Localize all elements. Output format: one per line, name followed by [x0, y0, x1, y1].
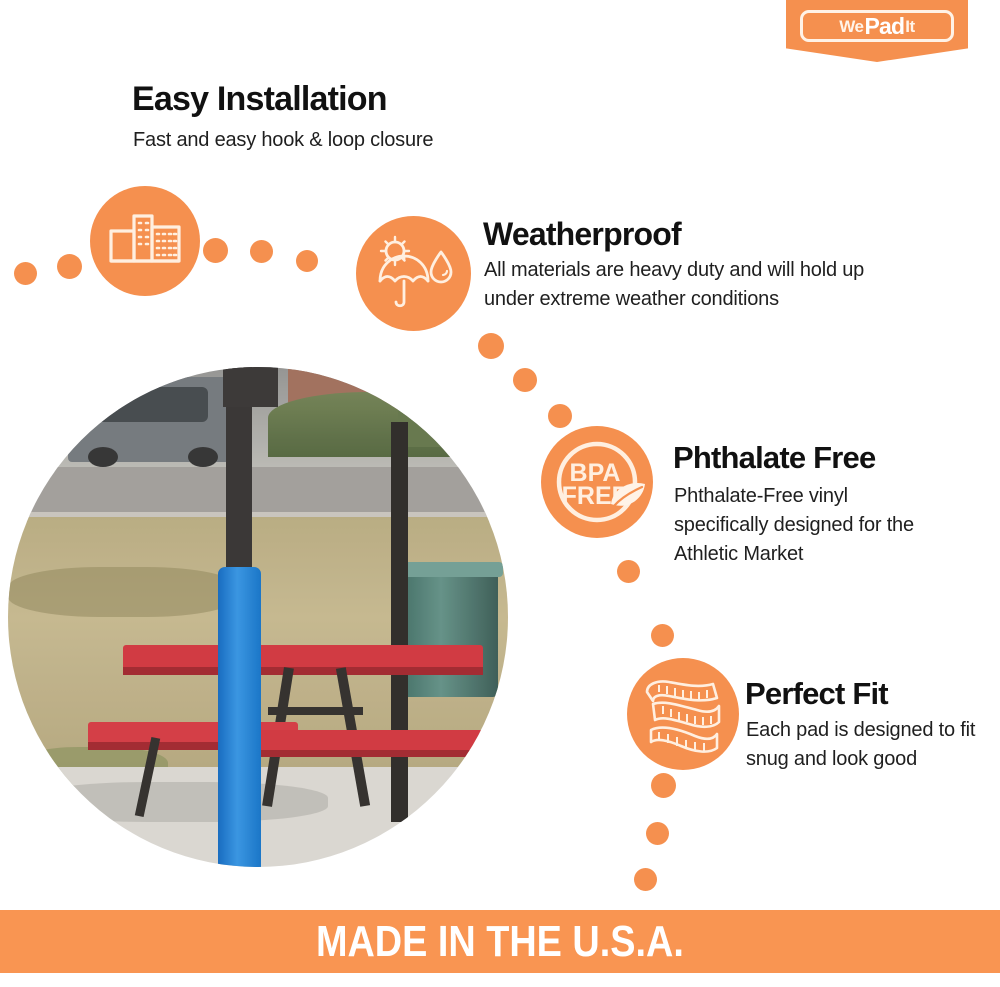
measuring-tape-icon [637, 668, 729, 760]
feature-description-perfect-fit: Each pad is designed to fit snug and loo… [746, 716, 976, 774]
path-dot [203, 238, 228, 263]
logo-pill-outline: We Pad It [800, 10, 954, 42]
path-dot [617, 560, 640, 583]
feature-title-phthalate-free: Phthalate Free [673, 440, 875, 476]
made-in-usa-text: MADE IN THE U.S.A. [316, 917, 684, 967]
feature-title-weatherproof: Weatherproof [483, 216, 681, 253]
logo-text-we: We [839, 18, 863, 35]
path-dot [14, 262, 37, 285]
path-dot [513, 368, 537, 392]
path-dot [646, 822, 669, 845]
path-dot [57, 254, 82, 279]
path-dot [296, 250, 318, 272]
feature-icon-circle-easy-installation[interactable] [90, 186, 200, 296]
building-icon [108, 209, 182, 273]
feature-icon-circle-phthalate-free[interactable]: BPA FREE [541, 426, 653, 538]
product-photo-scene [8, 367, 508, 867]
path-dot [478, 333, 504, 359]
logo-text-pad: Pad [864, 15, 906, 38]
sun-umbrella-rain-icon [371, 234, 457, 314]
feature-description-easy-installation: Fast and easy hook & loop closure [133, 126, 433, 154]
feature-icon-circle-perfect-fit[interactable] [627, 658, 739, 770]
product-feature-infographic: We Pad It Easy Installation Fast and eas… [0, 0, 1000, 987]
logo-text-it: It [905, 18, 914, 35]
feature-description-weatherproof: All materials are heavy duty and will ho… [484, 256, 914, 314]
path-dot [634, 868, 657, 891]
product-photo-circle [8, 367, 508, 867]
path-dot [250, 240, 273, 263]
path-dot [548, 404, 572, 428]
photo-overlay [8, 367, 508, 867]
feature-icon-circle-weatherproof[interactable] [356, 216, 471, 331]
feature-title-perfect-fit: Perfect Fit [745, 676, 888, 712]
path-dot [651, 624, 674, 647]
made-in-usa-banner: MADE IN THE U.S.A. [0, 910, 1000, 973]
brand-logo[interactable]: We Pad It [786, 0, 968, 62]
feature-title-easy-installation: Easy Installation [132, 80, 387, 119]
bpa-free-leaf-icon: BPA FREE [545, 430, 649, 534]
feature-description-phthalate-free: Phthalate-Free vinyl specifically design… [674, 482, 944, 569]
path-dot [651, 773, 676, 798]
